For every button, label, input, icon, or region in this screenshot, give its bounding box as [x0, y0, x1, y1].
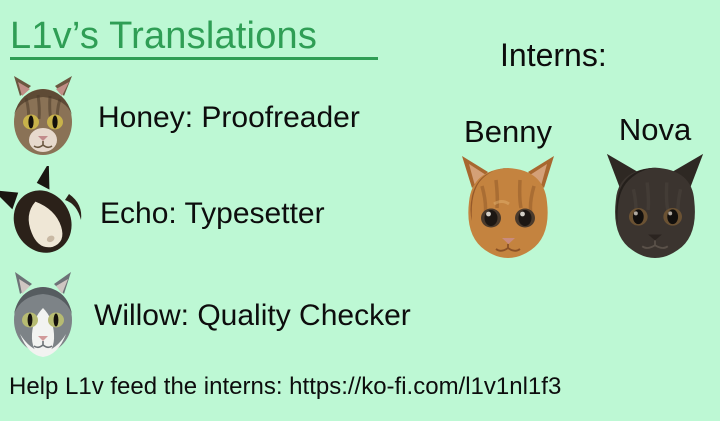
staff-label-echo: Echo: Typesetter: [100, 197, 325, 231]
cat-face-gray-white-icon: [0, 268, 86, 364]
staff-row-willow: Willow: Quality Checker: [0, 268, 411, 364]
cat-face-tuxedo-icon: [0, 166, 86, 262]
translation-credits-card: L1v’s Translations Honey: Proofreader: [0, 0, 720, 421]
staff-row-honey: Honey: Proofreader: [0, 70, 360, 166]
intern-name-benny: Benny: [438, 114, 578, 150]
footer-support-note: Help L1v feed the interns: https://ko-fi…: [9, 372, 561, 402]
staff-label-willow: Willow: Quality Checker: [94, 299, 411, 333]
cat-face-orange-icon: [452, 152, 564, 262]
staff-label-honey: Honey: Proofreader: [98, 101, 360, 135]
intern-nova: Nova: [585, 112, 720, 260]
intern-name-nova: Nova: [585, 112, 720, 148]
interns-heading: Interns:: [500, 36, 607, 74]
cat-face-tabby-icon: [0, 70, 86, 166]
page-title: L1v’s Translations: [10, 14, 317, 58]
staff-row-echo: Echo: Typesetter: [0, 166, 325, 262]
cat-face-black-icon: [597, 150, 713, 260]
intern-benny: Benny: [438, 114, 578, 262]
title-underline: [10, 57, 378, 60]
